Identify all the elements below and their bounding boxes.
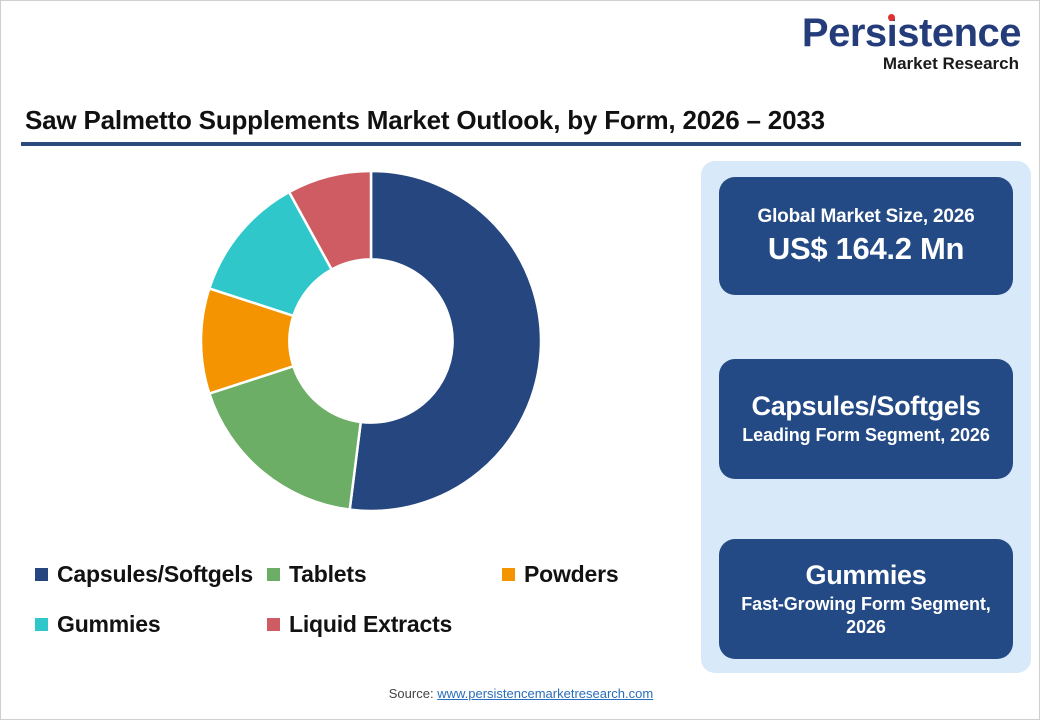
card-fast-growing-segment-subtext: Fast-Growing Form Segment, 2026 (719, 593, 1013, 638)
legend-item-tablets[interactable]: Tablets (267, 561, 502, 588)
legend-item-powders[interactable]: Powders (502, 561, 682, 588)
legend-swatch-capsules-softgels (35, 568, 48, 581)
logo-main-text: Persistence (802, 11, 1021, 55)
card-global-market-size: Global Market Size, 2026 US$ 164.2 Mn (719, 177, 1013, 295)
chart-area (21, 161, 681, 541)
legend-label-liquid-extracts: Liquid Extracts (289, 611, 452, 638)
donut-chart-svg (199, 169, 543, 513)
legend-swatch-tablets (267, 568, 280, 581)
title-underline-rule (21, 142, 1021, 146)
card-leading-segment: Capsules/Softgels Leading Form Segment, … (719, 359, 1013, 479)
donut-chart (199, 169, 543, 513)
logo-wordmark: Persistence (802, 13, 1021, 53)
legend-row-1: Capsules/Softgels Tablets Powders (35, 549, 685, 599)
chart-legend: Capsules/Softgels Tablets Powders Gummie… (35, 549, 685, 649)
card-fast-growing-segment-heading: Gummies (806, 560, 927, 591)
legend-label-powders: Powders (524, 561, 618, 588)
legend-label-gummies: Gummies (57, 611, 160, 638)
donut-slice-tablets[interactable] (209, 366, 360, 509)
page-title: Saw Palmetto Supplements Market Outlook,… (25, 105, 935, 136)
infographic-page: Persistence Market Research Saw Palmetto… (0, 0, 1040, 720)
legend-label-capsules-softgels: Capsules/Softgels (57, 561, 253, 588)
legend-item-capsules-softgels[interactable]: Capsules/Softgels (35, 561, 267, 588)
source-url-link[interactable]: www.persistencemarketresearch.com (437, 686, 653, 701)
legend-swatch-liquid-extracts (267, 618, 280, 631)
card-global-market-size-value: US$ 164.2 Mn (768, 230, 964, 267)
logo-red-dot-icon (888, 14, 895, 21)
company-logo: Persistence Market Research (801, 13, 1021, 72)
legend-label-tablets: Tablets (289, 561, 366, 588)
source-line: Source: www.persistencemarketresearch.co… (1, 686, 1040, 701)
card-leading-segment-subtext: Leading Form Segment, 2026 (728, 424, 1003, 447)
legend-item-liquid-extracts[interactable]: Liquid Extracts (267, 611, 502, 638)
card-fast-growing-segment: Gummies Fast-Growing Form Segment, 2026 (719, 539, 1013, 659)
legend-row-2: Gummies Liquid Extracts (35, 599, 685, 649)
legend-swatch-powders (502, 568, 515, 581)
legend-swatch-gummies (35, 618, 48, 631)
card-leading-segment-heading: Capsules/Softgels (752, 391, 981, 422)
donut-slice-group (201, 171, 541, 511)
donut-slice-capsules-softgels[interactable] (350, 171, 541, 511)
card-global-market-size-heading: Global Market Size, 2026 (758, 205, 975, 228)
highlights-panel: Global Market Size, 2026 US$ 164.2 Mn Ca… (701, 161, 1031, 673)
logo-subtitle: Market Research (801, 55, 1019, 72)
legend-item-gummies[interactable]: Gummies (35, 611, 267, 638)
source-prefix: Source: (389, 686, 437, 701)
